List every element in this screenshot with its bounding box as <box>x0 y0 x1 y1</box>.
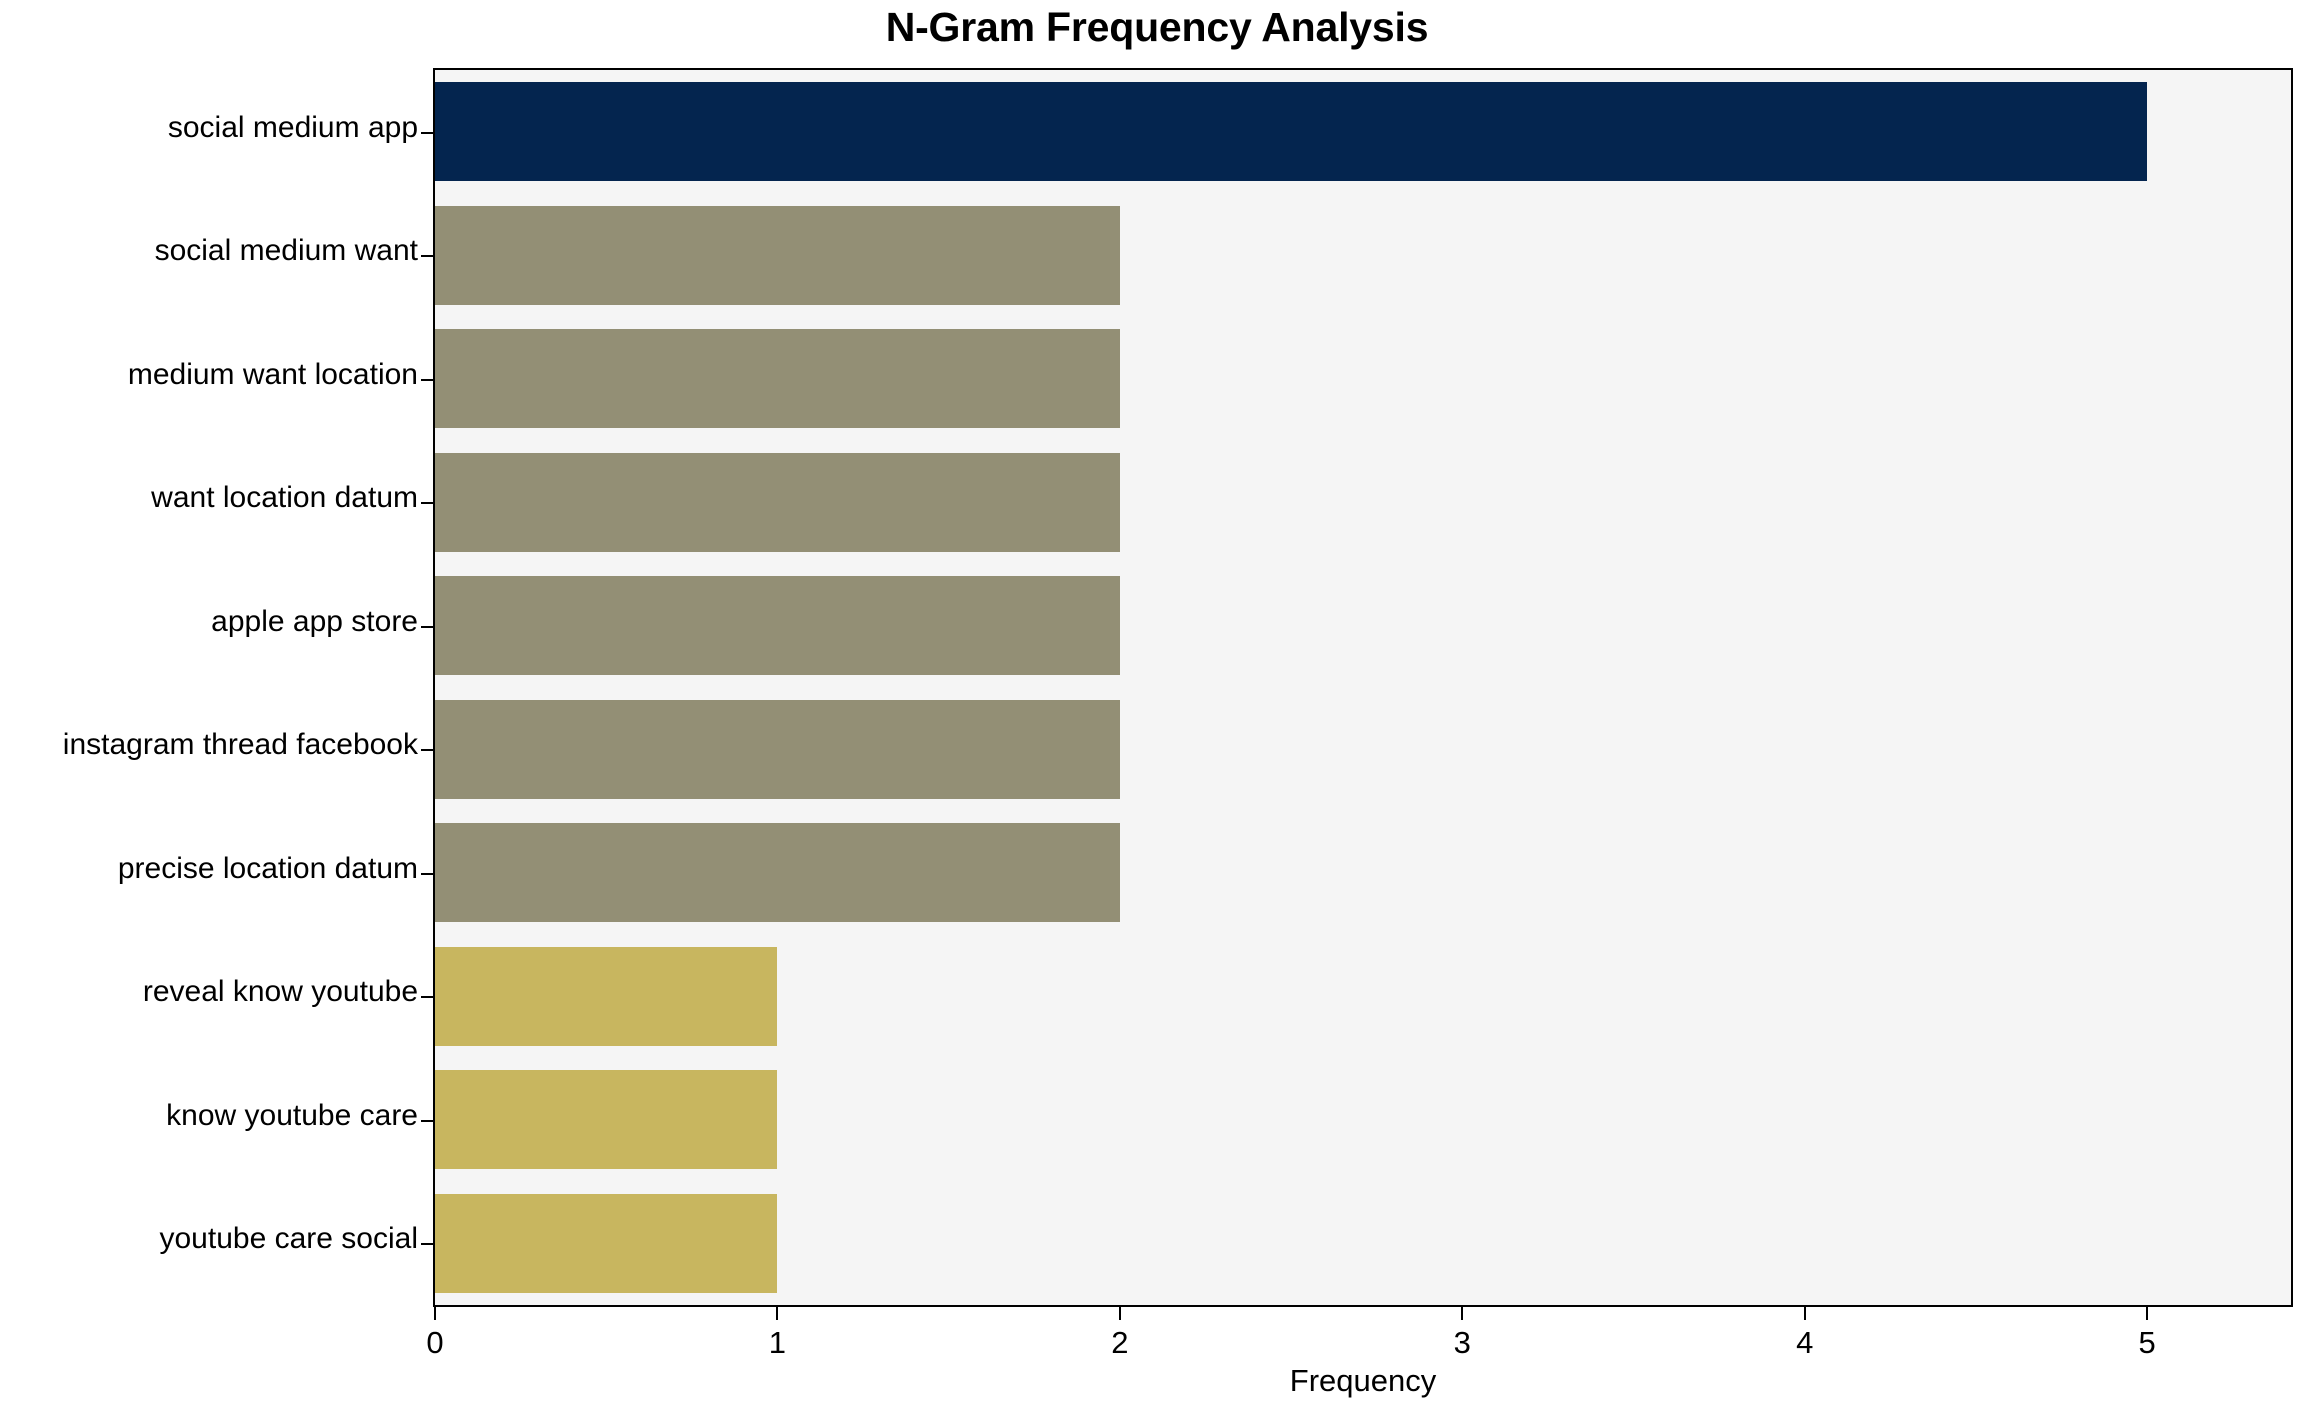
x-axis-tick-label: 5 <box>2139 1325 2156 1361</box>
bar-row <box>435 823 2291 922</box>
y-axis-tick-label: want location datum <box>0 481 418 515</box>
bar-row <box>435 206 2291 305</box>
y-axis-tick-label: youtube care social <box>0 1222 418 1256</box>
chart-figure: N-Gram Frequency Analysis social medium … <box>0 0 2314 1414</box>
x-axis-tick-mark <box>434 1307 436 1320</box>
bar <box>435 700 1120 799</box>
bar-row <box>435 329 2291 428</box>
y-axis-tick-label: reveal know youtube <box>0 975 418 1009</box>
bar <box>435 329 1120 428</box>
bar-row <box>435 700 2291 799</box>
x-axis-label: Frequency <box>433 1363 2293 1399</box>
x-axis-tick-label: 3 <box>1454 1325 1471 1361</box>
bar-row <box>435 576 2291 675</box>
x-axis-tick-label: 1 <box>769 1325 786 1361</box>
x-axis-tick-mark <box>1804 1307 1806 1320</box>
y-axis-tick-label: medium want location <box>0 358 418 392</box>
bar <box>435 206 1120 305</box>
bar-row <box>435 947 2291 1046</box>
y-axis-tick-mark <box>421 255 433 257</box>
y-axis-tick-mark <box>421 1120 433 1122</box>
x-axis-tick-mark <box>776 1307 778 1320</box>
bar-row <box>435 82 2291 181</box>
y-axis-tick-label: precise location datum <box>0 852 418 886</box>
y-axis-tick-label: social medium app <box>0 111 418 145</box>
bar-row <box>435 1194 2291 1293</box>
y-axis-tick-mark <box>421 502 433 504</box>
x-axis-tick-label: 4 <box>1796 1325 1813 1361</box>
bar <box>435 82 2147 181</box>
y-axis-tick-mark <box>421 132 433 134</box>
x-axis-tick-mark <box>1461 1307 1463 1320</box>
y-axis-tick-mark <box>421 379 433 381</box>
x-axis-tick-label: 2 <box>1111 1325 1128 1361</box>
bar <box>435 1070 777 1169</box>
y-axis-tick-label: instagram thread facebook <box>0 728 418 762</box>
y-axis-tick-mark <box>421 996 433 998</box>
bar-row <box>435 1070 2291 1169</box>
bar <box>435 1194 777 1293</box>
y-axis-tick-label: apple app store <box>0 605 418 639</box>
y-axis-tick-labels: social medium appsocial medium wantmediu… <box>0 0 418 1414</box>
plot-area <box>433 68 2293 1307</box>
x-axis-tick-label: 0 <box>426 1325 443 1361</box>
y-axis-tick-mark <box>421 873 433 875</box>
x-axis-tick-mark <box>2146 1307 2148 1320</box>
bar-row <box>435 453 2291 552</box>
bar <box>435 823 1120 922</box>
bar <box>435 947 777 1046</box>
y-axis-tick-label: know youtube care <box>0 1099 418 1133</box>
y-axis-tick-mark <box>421 749 433 751</box>
y-axis-tick-mark <box>421 1243 433 1245</box>
y-axis-tick-label: social medium want <box>0 234 418 268</box>
bar <box>435 576 1120 675</box>
bar <box>435 453 1120 552</box>
y-axis-tick-mark <box>421 626 433 628</box>
x-axis-tick-mark <box>1119 1307 1121 1320</box>
